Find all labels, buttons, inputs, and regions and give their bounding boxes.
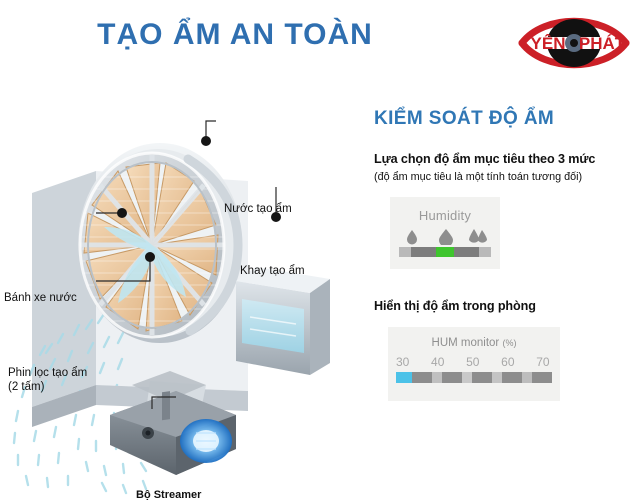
humidity-level-panel: Humidity (390, 197, 500, 269)
hum-monitor-text: HUM monitor (432, 337, 500, 349)
hum-monitor-segment-9 (532, 372, 552, 383)
target-humidity-title: Lựa chọn độ ẩm mục tiêu theo 3 mức (374, 152, 636, 166)
humidity-segment-1 (411, 247, 436, 257)
droplet-medium-icon (439, 229, 453, 245)
hum-tick-60: 60 (501, 355, 514, 369)
section-heading: KIỂM SOÁT ĐỘ ẨM (374, 108, 636, 130)
infographic-page: TẠO ẨM AN TOÀN YÊN PHÁT (0, 0, 640, 500)
target-humidity-note: (độ ẩm mục tiêu là một tính toán tương đ… (374, 171, 636, 183)
hum-monitor-segment-5 (472, 372, 492, 383)
label-filter-line1: Phin lọc tạo ẩm (8, 367, 87, 379)
hum-monitor-panel: HUM monitor (%) 3040506070 (388, 327, 560, 401)
hum-monitor-segment-3 (442, 372, 462, 383)
hum-monitor-segment-1 (412, 372, 432, 383)
logo-text-right: PHÁT (579, 34, 626, 53)
label-tray: Khay tạo ẩm (240, 264, 305, 278)
humidity-drop-icons (400, 229, 490, 245)
label-streamer: Bộ Streamer (136, 489, 201, 502)
hum-monitor-segment-4 (462, 372, 471, 383)
hum-monitor-segment-2 (432, 372, 441, 383)
hum-monitor-bar[interactable] (396, 372, 552, 383)
humidity-segment-2 (436, 247, 454, 257)
yen-phat-logo: YÊN PHÁT (514, 4, 634, 82)
label-water-wheel: Bánh xe nước (4, 291, 77, 305)
hum-tick-50: 50 (466, 355, 479, 369)
hum-monitor-ticks: 3040506070 (396, 355, 552, 370)
hum-monitor-segment-8 (522, 372, 531, 383)
logo-text-left: YÊN (531, 34, 566, 53)
humidifier-cutaway-diagram: Nước tạo ẩm Khay tạo ẩm Bánh xe nước Phi… (0, 85, 365, 500)
humidity-segment-4 (479, 247, 491, 257)
hum-monitor-label: HUM monitor (%) (388, 337, 560, 349)
droplet-small-icon (407, 230, 417, 245)
label-filter: Phin lọc tạo ẩm (2 tấm) (8, 366, 87, 394)
hum-monitor-segment-0 (396, 372, 412, 383)
hum-tick-70: 70 (536, 355, 549, 369)
droplet-large-icon (469, 229, 487, 243)
humidity-segment-3 (454, 247, 479, 257)
humidity-segment-0 (399, 247, 411, 257)
room-humidity-title: Hiển thị độ ẩm trong phòng (374, 299, 636, 313)
hum-monitor-segment-7 (502, 372, 522, 383)
page-title: TẠO ẨM AN TOÀN (0, 18, 470, 52)
hum-tick-40: 40 (431, 355, 444, 369)
humidity-level-bar[interactable] (399, 247, 491, 257)
label-water: Nước tạo ẩm (224, 202, 292, 216)
hum-tick-30: 30 (396, 355, 409, 369)
humidity-label: Humidity (390, 208, 500, 223)
label-filter-line2: (2 tấm) (8, 381, 44, 393)
hum-monitor-unit: (%) (502, 338, 516, 348)
hum-monitor-segment-6 (492, 372, 501, 383)
control-section: KIỂM SOÁT ĐỘ ẨM Lựa chọn độ ẩm mục tiêu … (374, 108, 636, 401)
